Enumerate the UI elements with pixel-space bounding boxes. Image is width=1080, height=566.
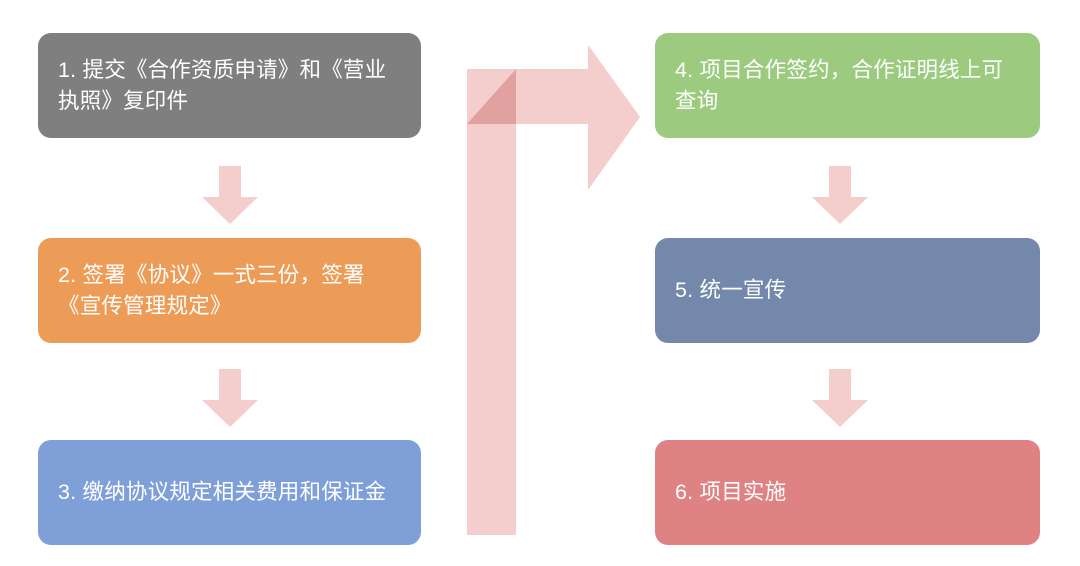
flow-node-step-6[interactable]: 6. 项目实施 [655,440,1040,545]
flowchart-canvas: 1. 提交《合作资质申请》和《营业执照》复印件 2. 签署《协议》一式三份，签署… [0,0,1080,566]
flow-node-step-2-label: 2. 签署《协议》一式三份，签署《宣传管理规定》 [58,260,403,321]
flow-node-step-1[interactable]: 1. 提交《合作资质申请》和《营业执照》复印件 [38,33,421,138]
flow-node-step-3-label: 3. 缴纳协议规定相关费用和保证金 [58,477,386,508]
flow-node-step-5[interactable]: 5. 统一宣传 [655,238,1040,343]
arrow-down-icon-step4-step5 [812,166,868,224]
arrow-down-icon-step1-step2 [202,166,258,224]
flow-node-step-6-label: 6. 项目实施 [675,477,786,508]
arrow-down-icon-step5-step6 [812,369,868,427]
flow-node-step-1-label: 1. 提交《合作资质申请》和《营业执照》复印件 [58,55,403,116]
flow-node-step-4[interactable]: 4. 项目合作签约，合作证明线上可查询 [655,33,1040,138]
flow-node-step-4-label: 4. 项目合作签约，合作证明线上可查询 [675,55,1022,116]
flow-node-step-3[interactable]: 3. 缴纳协议规定相关费用和保证金 [38,440,421,545]
arrow-elbow-up-right-icon-step3-step4 [455,30,655,545]
flow-node-step-5-label: 5. 统一宣传 [675,275,786,306]
flow-node-step-2[interactable]: 2. 签署《协议》一式三份，签署《宣传管理规定》 [38,238,421,343]
arrow-down-icon-step2-step3 [202,369,258,427]
